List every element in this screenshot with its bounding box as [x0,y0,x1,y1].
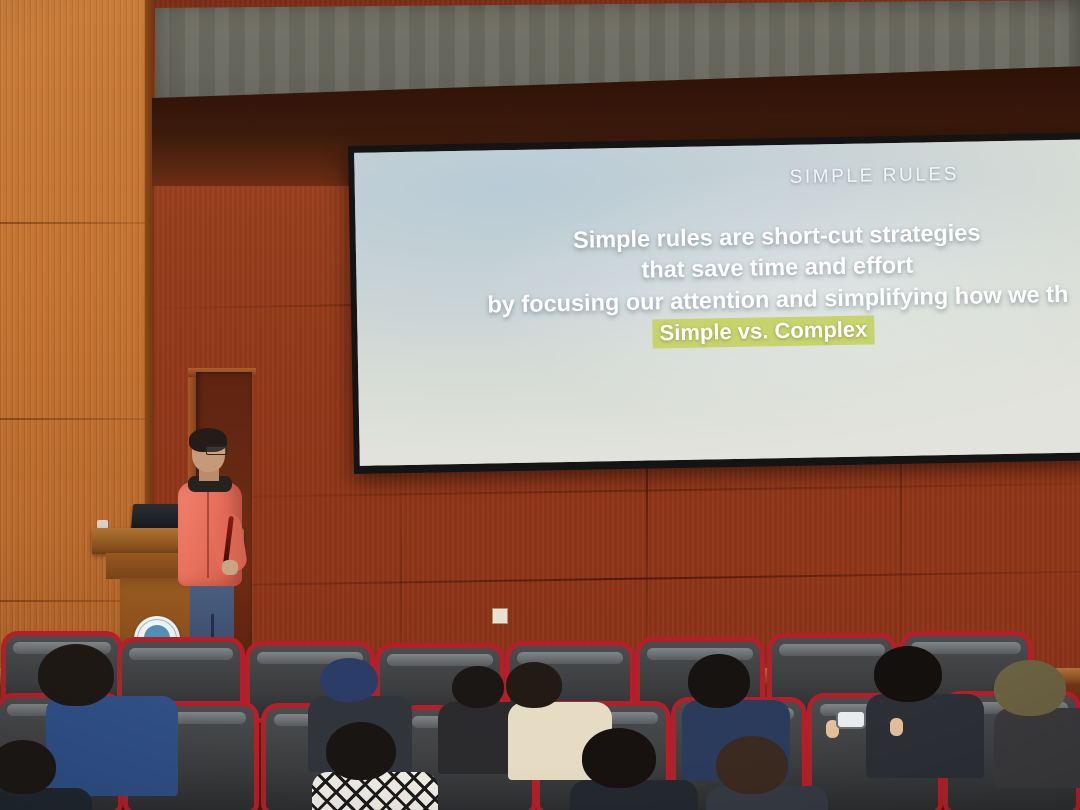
left-wall-seam [0,418,152,420]
attendee-head [994,660,1066,716]
projection-screen-frame: SIMPLE RULES Simple rules are short-cut … [348,132,1080,474]
presenter-zipper [207,486,209,578]
seat-headrest [779,644,885,656]
attendee-head [326,722,396,780]
seat-headrest [129,648,233,660]
attendee-head [582,728,656,788]
slide-heading: SIMPLE RULES [355,161,1080,196]
slide-highlight-text: Simple vs. Complex [652,315,874,348]
attendee-head [320,658,378,702]
lecture-hall-photo: SIMPLE RULES Simple rules are short-cut … [0,0,1080,810]
projection-screen-surface[interactable]: SIMPLE RULES Simple rules are short-cut … [354,139,1080,465]
attendee-head [506,662,562,708]
attendee-head [38,644,114,706]
attendee-head [452,666,504,708]
attendee-head [0,740,56,794]
attendee-coat [866,694,984,778]
wall-outlet-plate [492,608,508,624]
presenter-hand [222,560,238,575]
attendee-head [874,646,942,702]
glasses-icon [206,446,227,455]
slide-body-text: Simple rules are short-cut strategies th… [356,214,1080,323]
attendee-head [688,654,750,708]
raised-hand [890,718,903,736]
smartphone-icon[interactable] [838,712,864,727]
attendee-coat [994,708,1080,788]
attendee-coat [46,696,178,796]
seat-headrest [387,654,493,666]
left-wall-seam [0,222,152,224]
attendee-head [716,736,788,794]
audience-seating-area [0,636,1080,810]
